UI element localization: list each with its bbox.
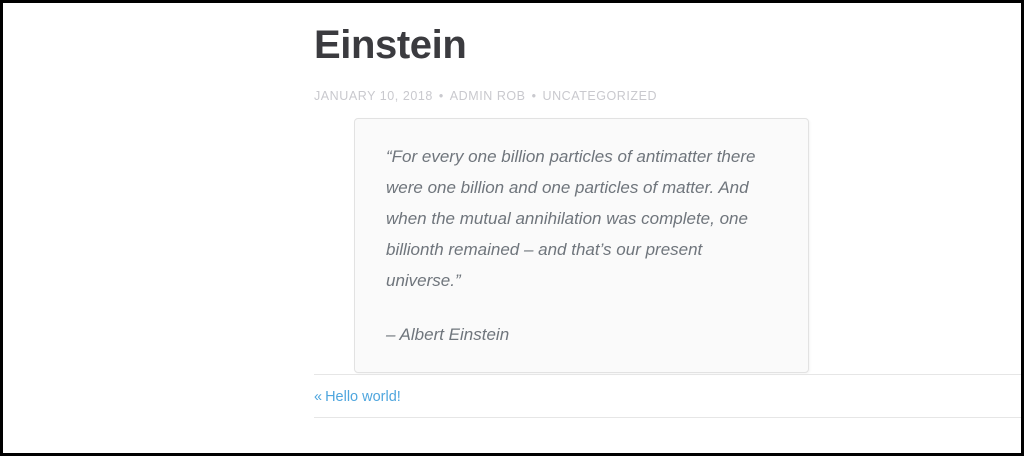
post-meta: JANUARY 10, 2018•ADMIN ROB•UNCATEGORIZED — [314, 87, 657, 104]
previous-post-label: Hello world! — [325, 389, 401, 405]
post-date: JANUARY 10, 2018 — [314, 88, 433, 104]
page-title: Einstein — [314, 21, 466, 69]
meta-separator-dot-icon: • — [433, 88, 450, 104]
quote-attribution: – Albert Einstein — [386, 322, 780, 348]
previous-arrow-icon: « — [314, 388, 322, 406]
post-navigation: «Hello world! — [314, 374, 1024, 418]
page-frame: Einstein JANUARY 10, 2018•ADMIN ROB•UNCA… — [0, 0, 1024, 456]
previous-post-link[interactable]: «Hello world! — [314, 388, 401, 406]
quote-text: “For every one billion particles of anti… — [386, 141, 780, 296]
post-content-column: Einstein JANUARY 10, 2018•ADMIN ROB•UNCA… — [311, 3, 1024, 453]
post-author[interactable]: ADMIN ROB — [450, 88, 526, 104]
post-category[interactable]: UNCATEGORIZED — [543, 88, 658, 104]
quote-block: “For every one billion particles of anti… — [354, 118, 809, 373]
meta-separator-dot-icon: • — [526, 88, 543, 104]
